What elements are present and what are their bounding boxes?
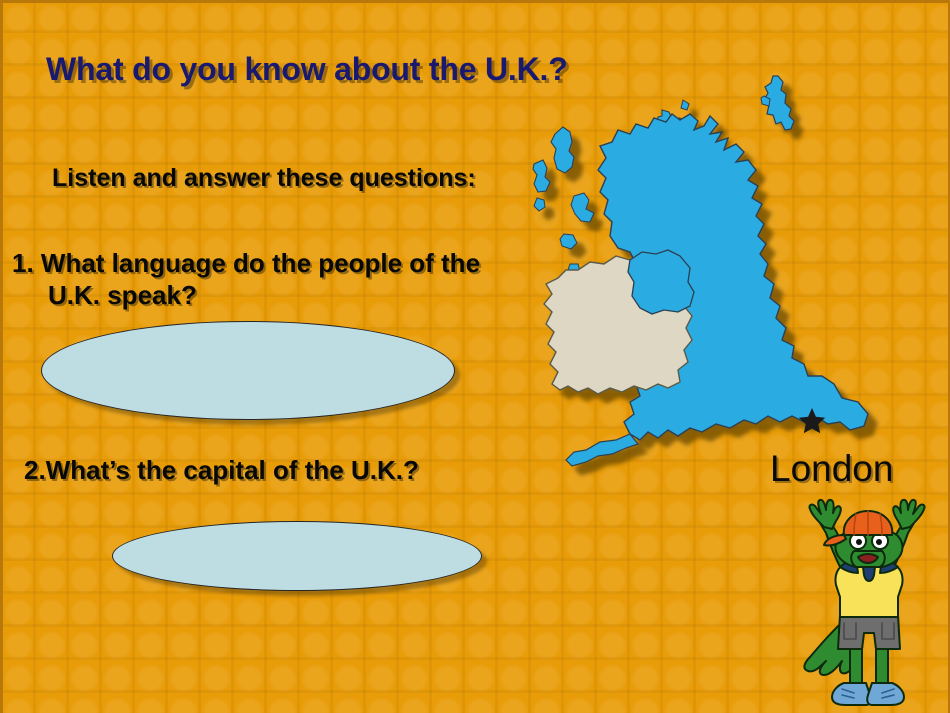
- mascot-pupil-right: [876, 539, 882, 545]
- instruction-text: Listen and answer these questions:: [52, 164, 476, 193]
- hebrides-islet-skye: [571, 193, 594, 222]
- question-2: 2.What’s the capital of the U.K.?: [24, 455, 419, 487]
- mascot-leg-left: [850, 649, 862, 683]
- map-landmasses: [533, 76, 868, 466]
- mascot-leg-right: [876, 649, 888, 683]
- cornwall-peninsula: [566, 434, 638, 466]
- question-1-line-1: What language do the people of the: [41, 248, 480, 278]
- answer-ellipse-1[interactable]: [41, 321, 455, 420]
- mascot-mouth: [858, 554, 878, 563]
- mascot-shoe-left: [832, 683, 871, 705]
- outer-hebrides-south: [534, 198, 545, 211]
- page-title: What do you know about the U.K.?: [46, 51, 568, 88]
- question-1: 1. What language do the people of the U.…: [12, 248, 572, 311]
- outer-hebrides-north: [551, 127, 574, 173]
- question-1-number: 1.: [12, 248, 34, 278]
- outer-hebrides-mid: [533, 160, 550, 192]
- mascot-shoe-right: [867, 683, 904, 705]
- question-2-number: 2.: [24, 455, 46, 485]
- slide-canvas: What do you know about the U.K.? Listen …: [0, 0, 950, 713]
- orkney-islet: [681, 100, 689, 110]
- question-1-line-2: U.K. speak?: [12, 280, 572, 312]
- city-label-london: London: [770, 448, 893, 490]
- mascot-pupil-left: [856, 539, 862, 545]
- uk-map: [512, 58, 950, 488]
- answer-ellipse-2[interactable]: [112, 521, 482, 591]
- mascot-hand-left: [809, 500, 840, 529]
- isle-of-mull: [560, 234, 577, 249]
- question-2-text: What’s the capital of the U.K.?: [46, 455, 419, 485]
- crocodile-mascot: [788, 497, 948, 713]
- mascot-shorts: [838, 615, 900, 649]
- mascot-hand-right: [893, 500, 924, 529]
